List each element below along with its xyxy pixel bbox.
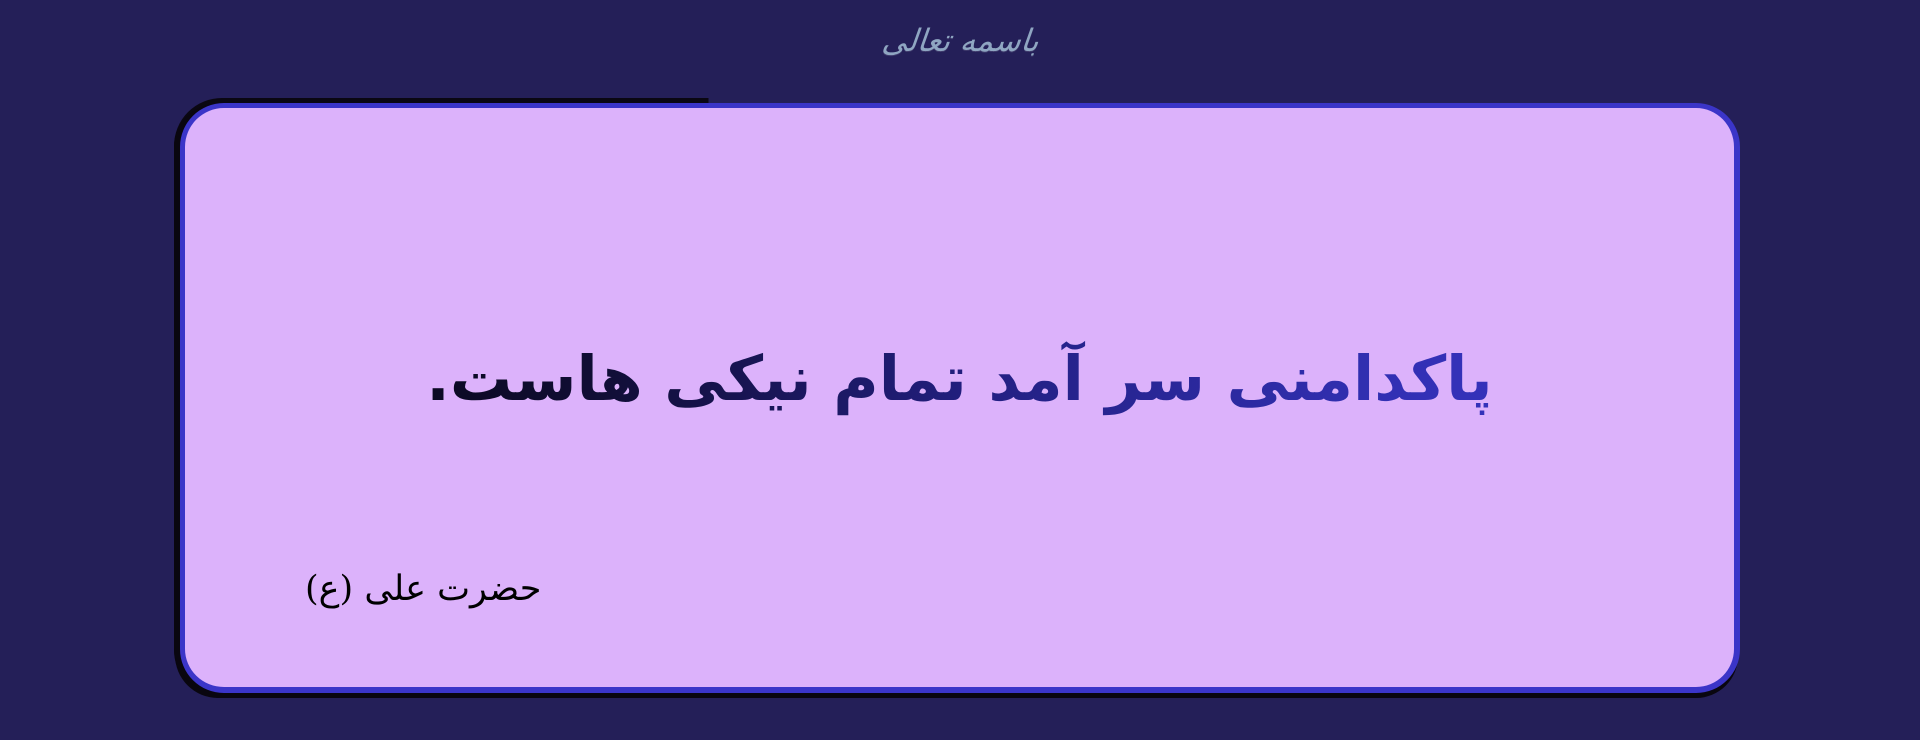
quote-card: پاکدامنی سر آمد تمام نیکی هاست. حضرت علی… (180, 103, 1740, 693)
page-header: باسمه تعالی (0, 0, 1920, 82)
quote-card-inner: پاکدامنی سر آمد تمام نیکی هاست. حضرت علی… (185, 108, 1734, 687)
quote-text: پاکدامنی سر آمد تمام نیکی هاست. (185, 340, 1734, 418)
bismillah-heading: باسمه تعالی (880, 26, 1040, 57)
quote-page: { "page": { "background_color": "#241f58… (0, 0, 1920, 740)
quote-attribution: حضرت علی (ع) (305, 569, 541, 609)
